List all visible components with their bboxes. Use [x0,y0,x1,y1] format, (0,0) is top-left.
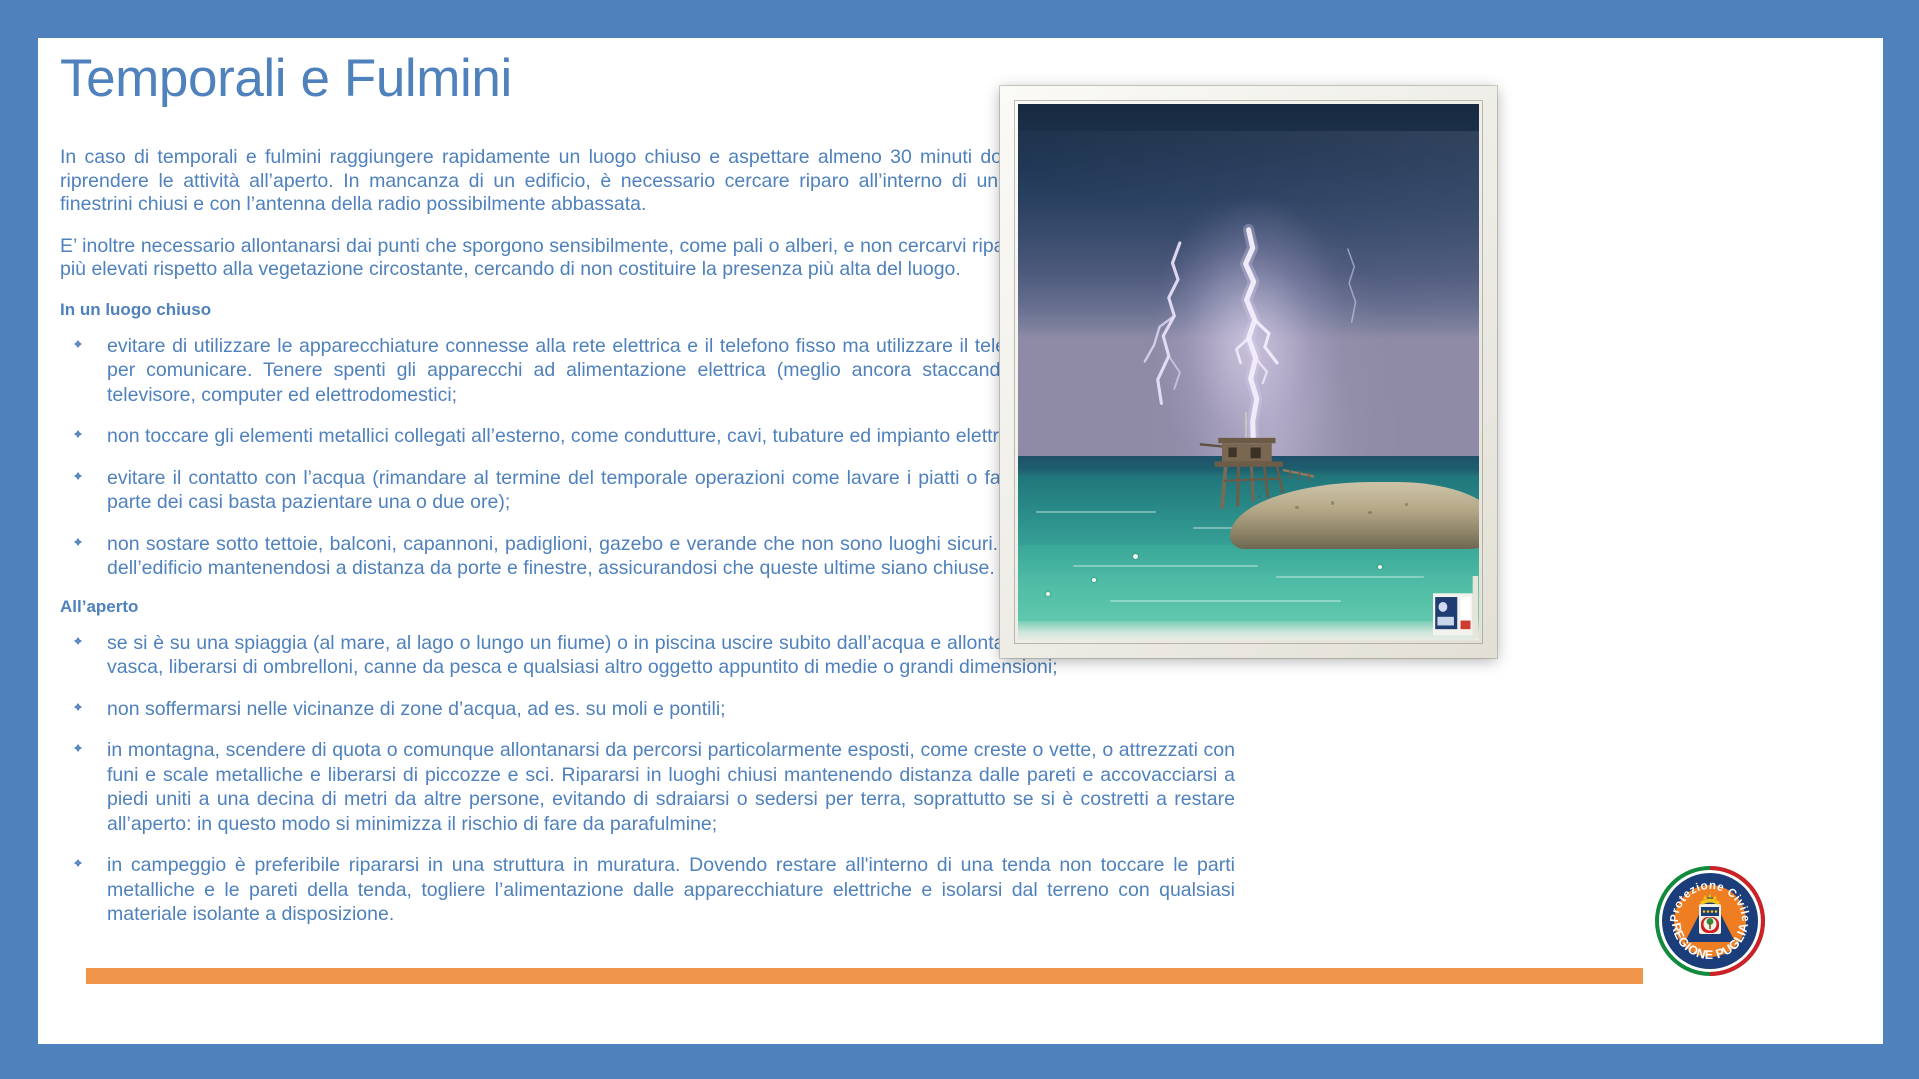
beach-sign [1433,576,1479,640]
diamond-bullet-icon [70,534,86,552]
list-item: non soffermarsi nelle vicinanze di zone … [60,697,1235,722]
orange-divider-bar [86,968,1643,984]
trabucco-pier [1198,410,1318,528]
wave-line [1276,576,1424,578]
wave-line [1073,565,1257,567]
wave-line [1110,600,1341,602]
buoy [1046,592,1050,596]
list-item: in campeggio è preferibile ripararsi in … [60,853,1235,927]
diamond-bullet-icon [70,699,86,717]
page-title: Temporali e Fulmini [60,48,512,109]
list-item-text: in montagna, scendere di quota o comunqu… [107,739,1235,835]
diamond-bullet-icon [70,426,86,444]
shore-foam-band [1018,621,1479,640]
slide-canvas: Temporali e Fulmini In caso di temporali… [38,38,1883,1044]
lightning-bolt-right [1322,249,1387,367]
sea-near-band [1018,545,1479,625]
list-item-text: in campeggio è preferibile ripararsi in … [107,854,1235,925]
diamond-bullet-icon [70,336,86,354]
diamond-bullet-icon [70,855,86,873]
lightning-over-sea-photo [1018,104,1479,640]
buoy [1378,565,1382,569]
diamond-bullet-icon [70,633,86,651]
outdoor-bullet-list: se si è su una spiaggia (al mare, al lag… [60,631,1235,927]
list-item: in montagna, scendere di quota o comunqu… [60,738,1235,836]
lightning-bolt-left [1119,243,1211,425]
list-item-text: non soffermarsi nelle vicinanze di zone … [107,698,726,720]
diamond-bullet-icon [70,468,86,486]
list-item-text: non toccare gli elementi metallici colle… [107,425,1029,447]
diamond-bullet-icon [70,740,86,758]
photo-frame [1000,86,1497,658]
protezione-civile-regione-puglia-logo: Protezione Civile REGIONE PUGLIA [1655,866,1765,976]
